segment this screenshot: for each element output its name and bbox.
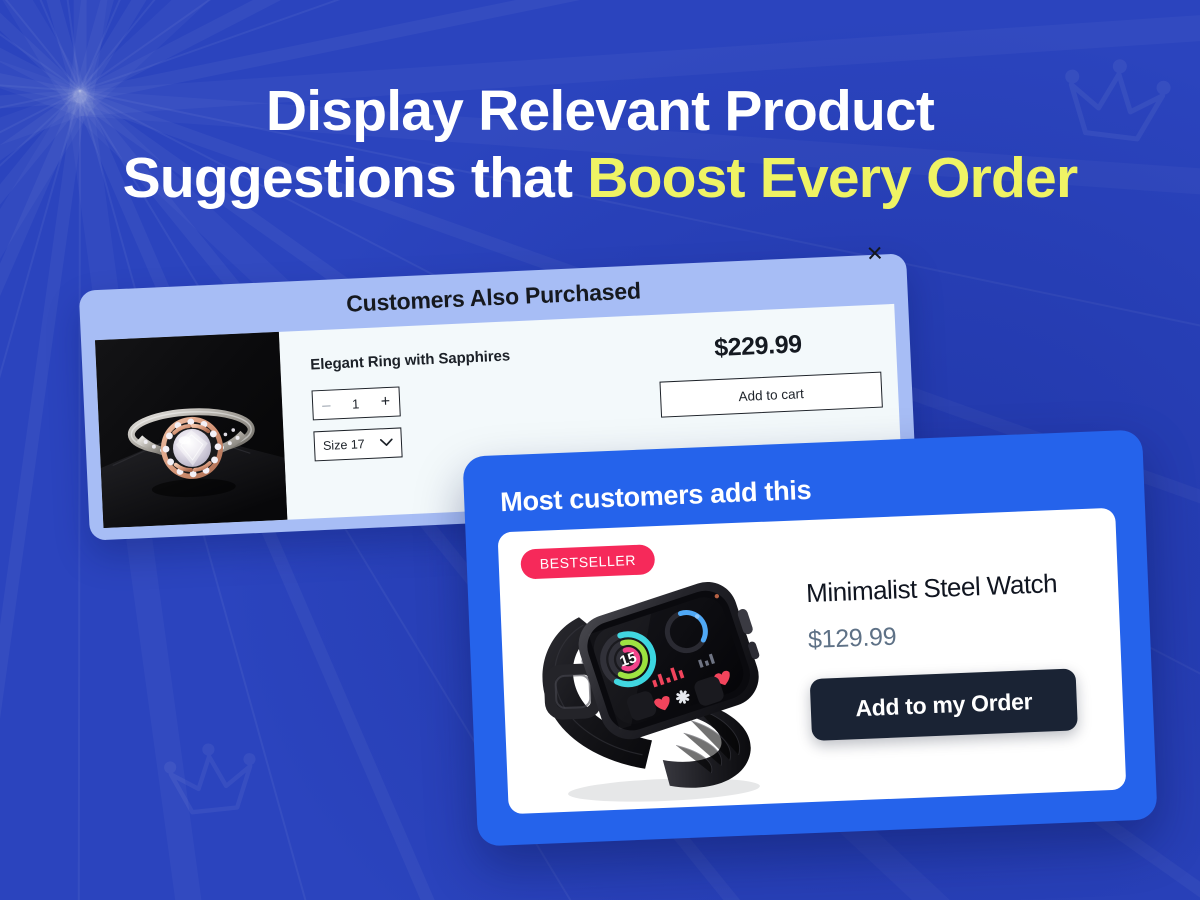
quantity-increment-button[interactable]: +: [380, 394, 390, 410]
close-icon[interactable]: ✕: [861, 240, 888, 267]
card-title: Most customers add this: [500, 475, 812, 518]
product-name: Minimalist Steel Watch: [806, 567, 1093, 609]
size-select[interactable]: Size 17: [313, 427, 402, 461]
add-to-my-order-button[interactable]: Add to my Order: [810, 668, 1078, 741]
crown-icon: [155, 730, 269, 838]
add-to-cart-button[interactable]: Add to cart: [659, 372, 882, 418]
chevron-down-icon: [380, 434, 394, 453]
product-thumbnail: [95, 332, 287, 528]
product-price: $129.99: [808, 615, 1095, 655]
quantity-value: 1: [352, 397, 360, 410]
bestseller-badge: BESTSELLER: [520, 544, 655, 579]
product-info: Minimalist Steel Watch $129.99 Add to my…: [797, 508, 1126, 803]
quantity-decrement-button[interactable]: –: [322, 397, 331, 412]
size-select-value: Size 17: [323, 437, 365, 453]
card-body: BESTSELLER: [498, 508, 1127, 815]
headline-line-2-accent: Boost Every Order: [587, 146, 1077, 210]
watch-product-image: 15: [505, 548, 807, 812]
product-media: BESTSELLER: [498, 520, 809, 814]
headline-line-2-plain: Suggestions that: [123, 146, 588, 210]
product-name: Elegant Ring with Sapphires: [310, 342, 636, 374]
quantity-stepper[interactable]: – 1 +: [312, 386, 401, 420]
product-price: $229.99: [635, 327, 880, 367]
headline-line-1: Display Relevant Product: [266, 79, 934, 143]
most-customers-add-this-card: Most customers add this BESTSELLER: [462, 430, 1157, 847]
page-headline: Display Relevant Product Suggestions tha…: [0, 78, 1200, 213]
ring-product-image: [95, 332, 287, 528]
